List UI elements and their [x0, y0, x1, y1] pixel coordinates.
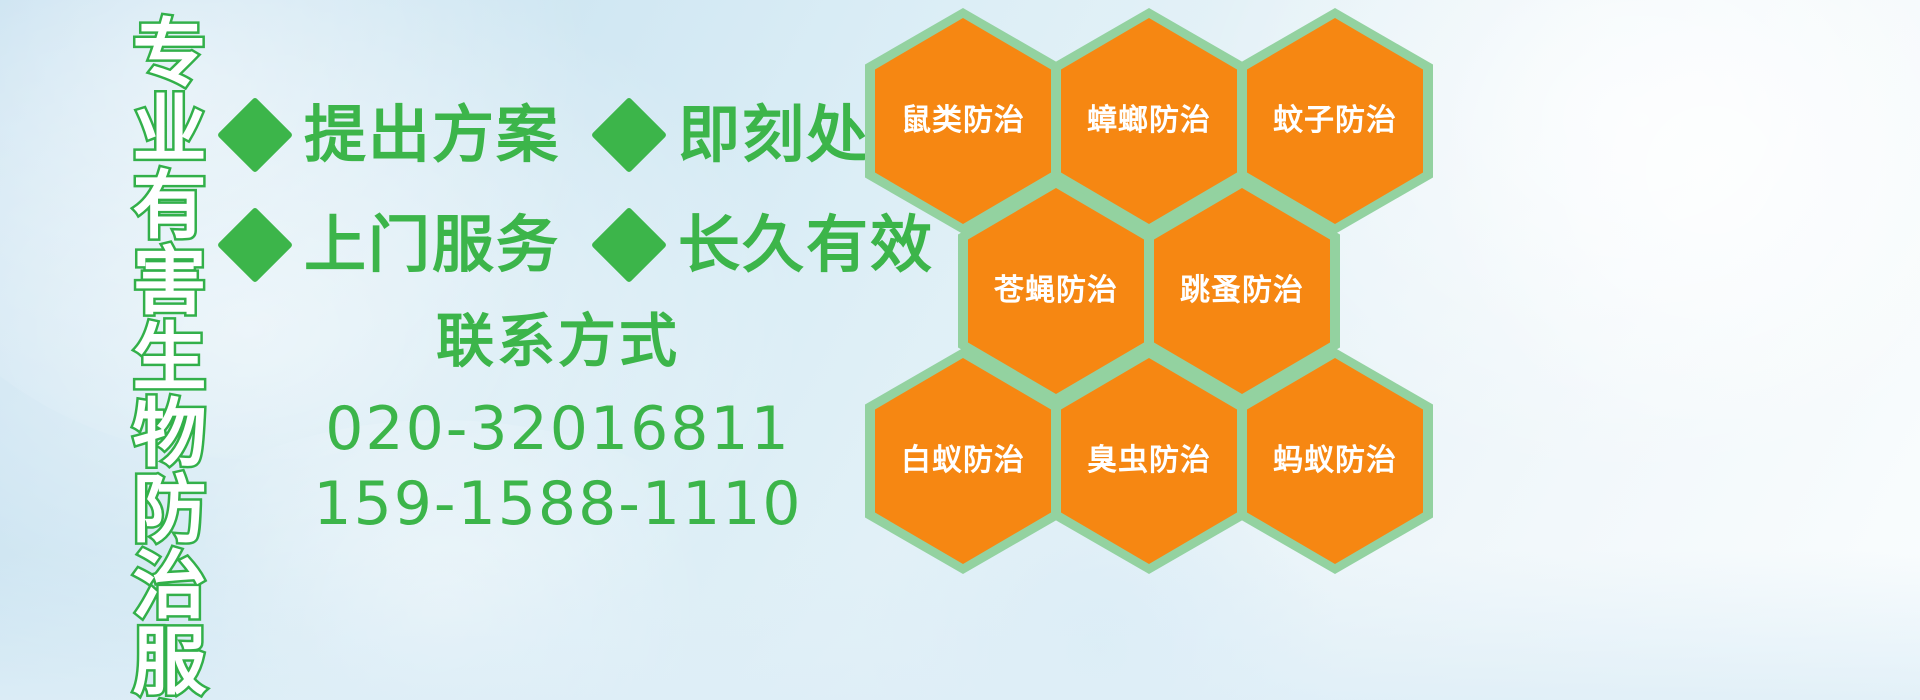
service-label: 白蚁防治 [901, 446, 1025, 476]
contact-title: 联系方式 [228, 310, 888, 374]
service-label: 鼠类防治 [901, 106, 1025, 136]
hexagon-shape: 臭虫防治 [1061, 358, 1237, 564]
feature-label: 提出方案 [304, 104, 560, 166]
hexagon-shape: 跳蚤防治 [1154, 188, 1330, 394]
service-label: 蚊子防治 [1273, 106, 1397, 136]
contact-phone-mobile[interactable]: 159-1588-1110 [228, 467, 888, 542]
diamond-bullet-icon [217, 207, 293, 283]
feature-item-onsite-service: 上门服务 [228, 214, 560, 276]
service-honeycomb: 鼠类防治 蟑螂防治 蚊子防治 苍蝇防治 跳蚤防治 白蚁防治 [855, 0, 1455, 700]
vertical-headline: 专业有害生物防治服务 [104, 14, 200, 700]
feature-row: 上门服务 长久有效 [228, 190, 868, 300]
service-label: 蟑螂防治 [1087, 106, 1211, 136]
service-label: 蚂蚁防治 [1273, 446, 1397, 476]
hexagon-shape: 白蚁防治 [875, 358, 1051, 564]
diamond-bullet-icon [591, 207, 667, 283]
contact-block: 联系方式 020-32016811 159-1588-1110 [228, 310, 888, 542]
diamond-bullet-icon [591, 97, 667, 173]
contact-phone-landline[interactable]: 020-32016811 [228, 392, 888, 467]
diamond-bullet-icon [217, 97, 293, 173]
hexagon-shape: 苍蝇防治 [968, 188, 1144, 394]
background-glow-right [1400, 0, 1920, 420]
pest-control-banner: 专业有害生物防治服务 提出方案 即刻处理 上门服务 长久有效 联 [0, 0, 1920, 700]
service-label: 苍蝇防治 [994, 276, 1118, 306]
service-label: 臭虫防治 [1087, 446, 1211, 476]
hexagon-shape: 鼠类防治 [875, 18, 1051, 224]
service-label: 跳蚤防治 [1180, 276, 1304, 306]
hexagon-shape: 蚂蚁防治 [1247, 358, 1423, 564]
hexagon-shape: 蚊子防治 [1247, 18, 1423, 224]
hexagon-shape: 蟑螂防治 [1061, 18, 1237, 224]
feature-item-propose-plan: 提出方案 [228, 104, 560, 166]
feature-label: 上门服务 [304, 214, 560, 276]
feature-list: 提出方案 即刻处理 上门服务 长久有效 [228, 80, 868, 300]
feature-row: 提出方案 即刻处理 [228, 80, 868, 190]
